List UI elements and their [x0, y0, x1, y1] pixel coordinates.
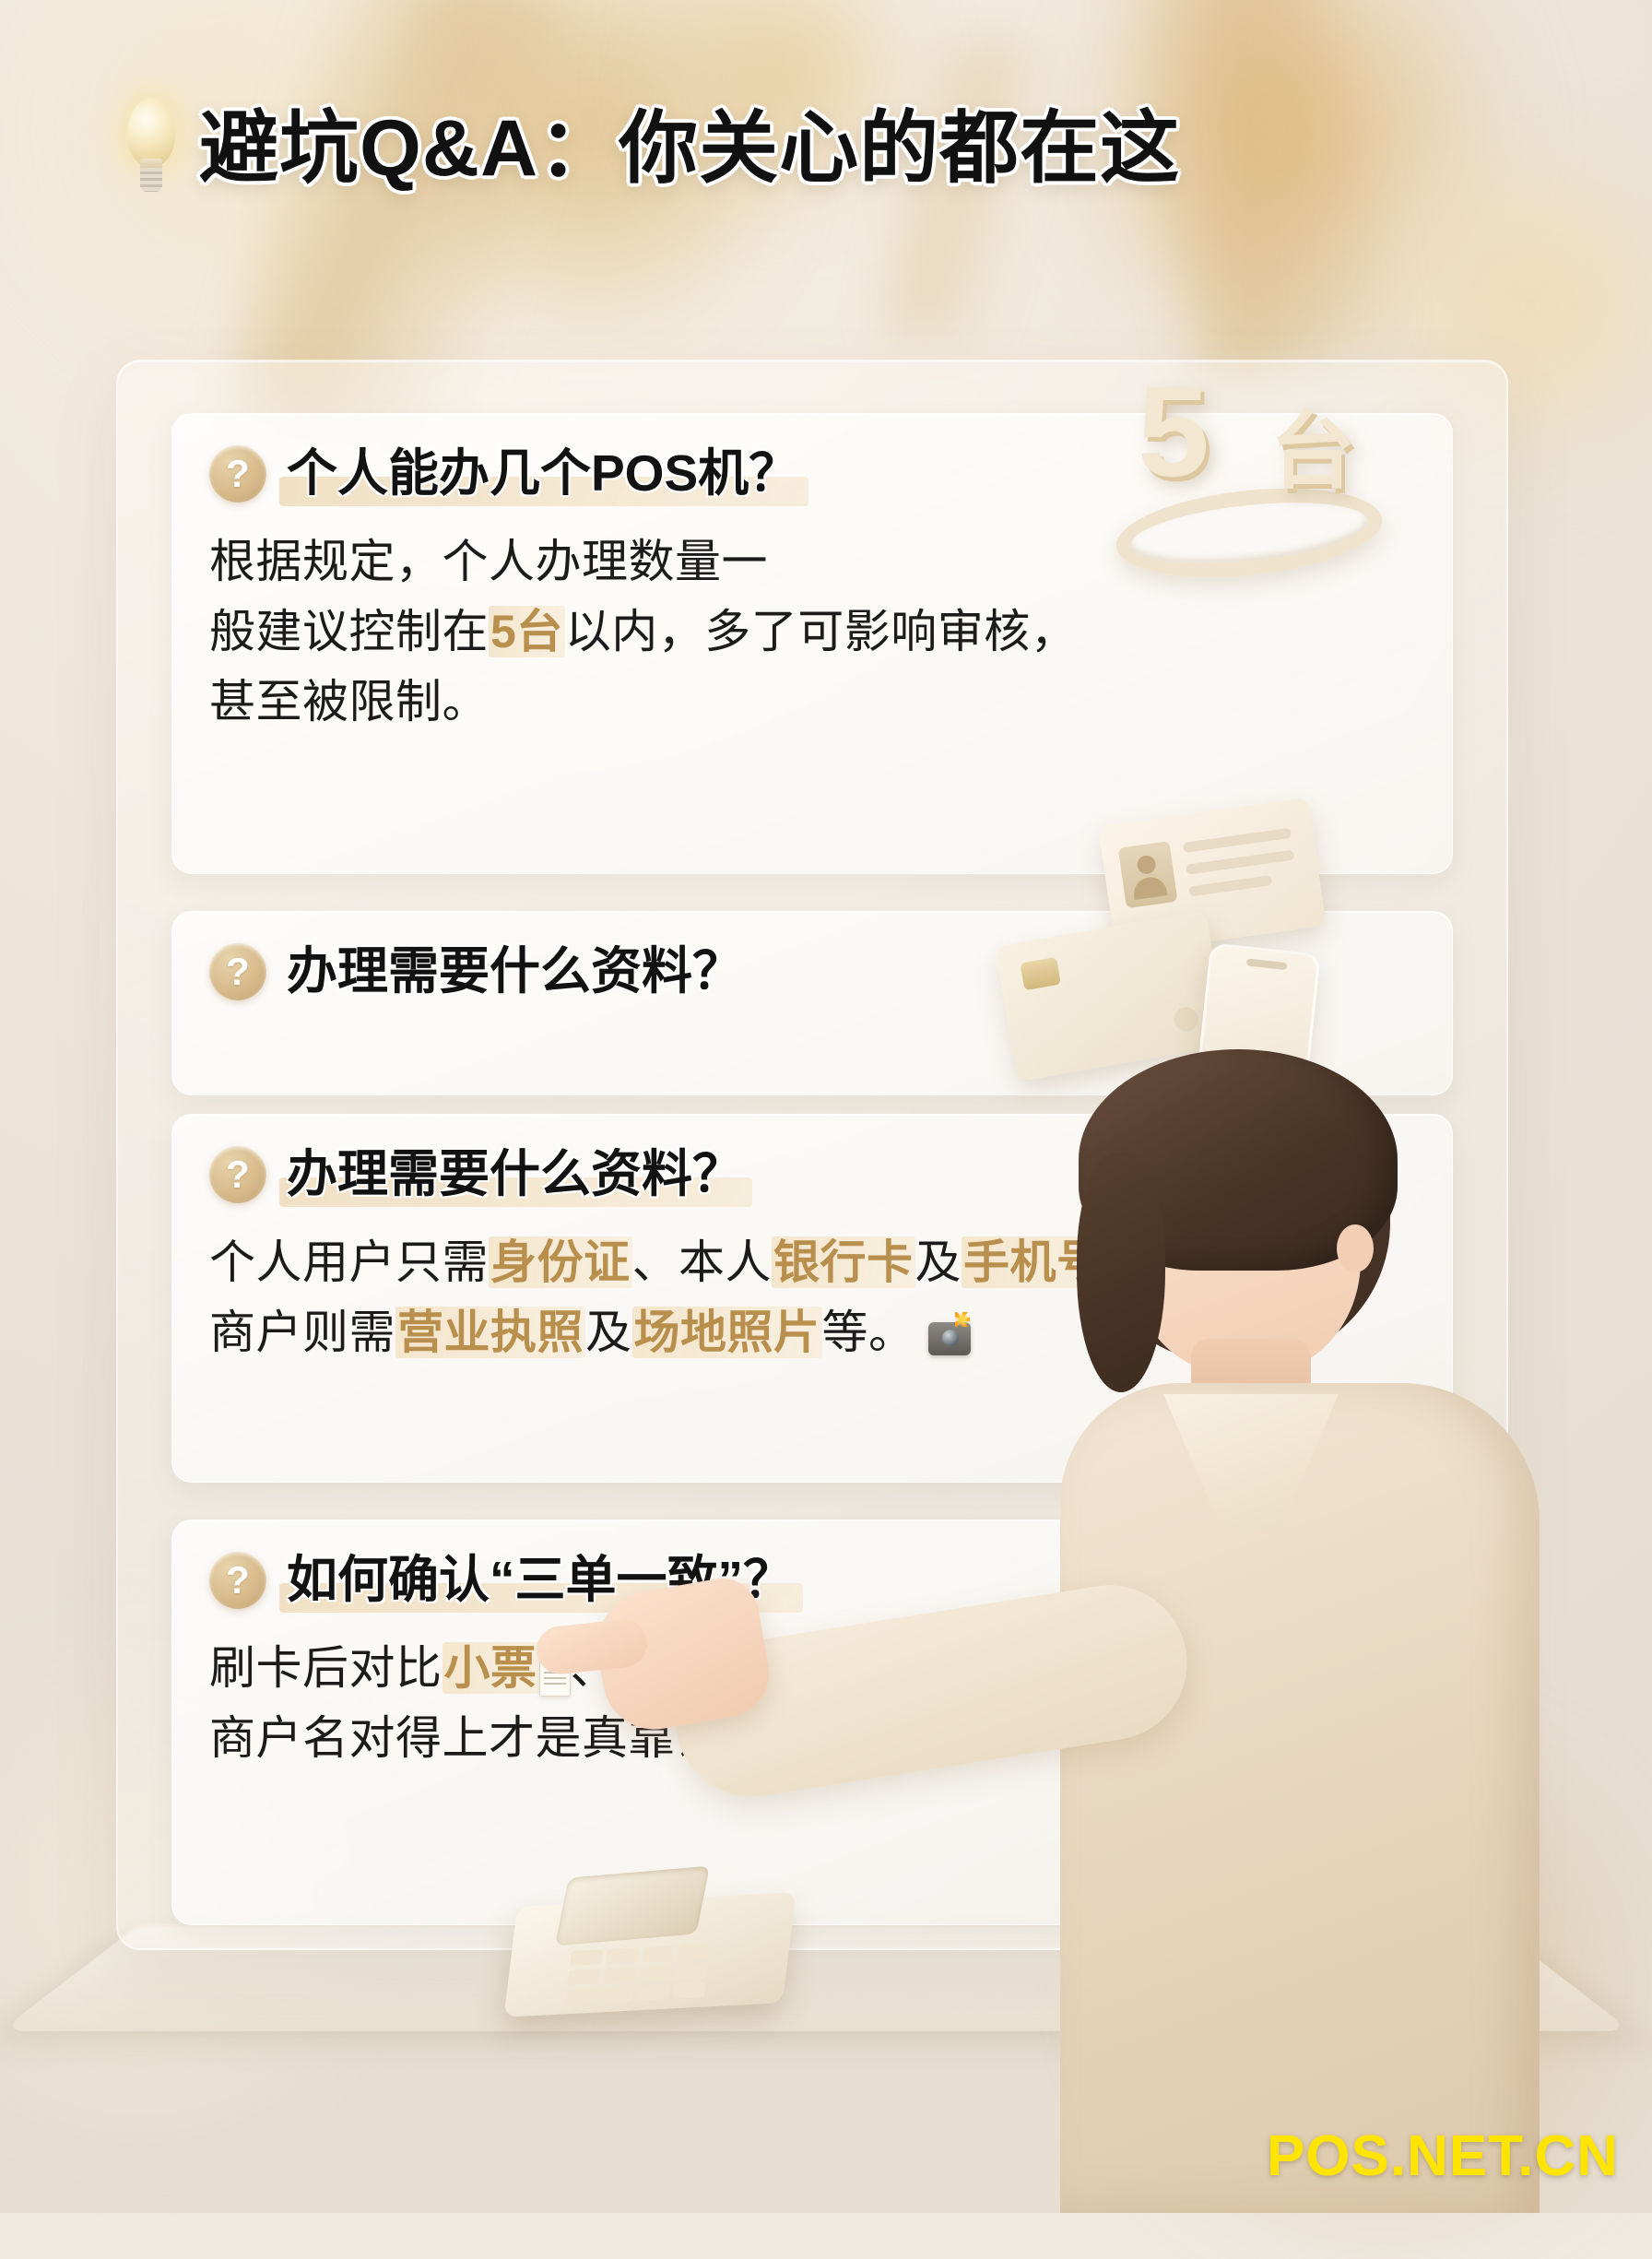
ear: [1337, 1224, 1374, 1272]
question-mark-icon: ?: [209, 943, 266, 1000]
answer-segment: 商户则需: [209, 1307, 395, 1358]
five-number: 5: [1138, 367, 1209, 496]
answer-highlight: 身份证: [489, 1236, 632, 1288]
watermark: POS.NET.CN: [1267, 2123, 1619, 2189]
question-mark-icon: ?: [209, 445, 266, 503]
answer-segment: 根据规定，个人办理数量一: [209, 536, 768, 587]
torso: [1060, 1383, 1540, 2213]
answer-segment: 甚至被限制。: [209, 676, 489, 727]
pos-keypad: [565, 1944, 711, 2005]
answer-segment: 等。: [822, 1307, 915, 1358]
page-header: 避坑Q&A：你关心的都在这: [118, 98, 1180, 199]
question-text: 个人能办几个POS机？: [287, 445, 799, 503]
five-units-3d-prop: 5 台: [1097, 378, 1401, 599]
answer-segment: 、本人: [632, 1236, 773, 1288]
lightbulb-icon: [118, 98, 184, 199]
answer-highlight: 营业执照: [395, 1307, 585, 1358]
answer-highlight: 小票: [442, 1642, 539, 1694]
question-text: 办理需要什么资料？: [287, 1146, 743, 1203]
character-illustration: [950, 977, 1652, 2213]
pos-screen: [555, 1866, 710, 1946]
answer-segment: 及: [585, 1307, 632, 1358]
answer-segment: 般建议控制在: [209, 606, 489, 657]
hair-side: [1077, 1153, 1165, 1392]
answer-segment: 个人用户只需: [209, 1236, 489, 1288]
answer-highlight: 银行卡: [772, 1236, 915, 1288]
answer-segment: 刷卡后对比: [209, 1642, 442, 1694]
answer-segment: 以内，多了可影响审核，: [565, 606, 1078, 657]
answer-highlight: 场地照片: [632, 1307, 822, 1358]
question-text: 办理需要什么资料？: [287, 943, 743, 1000]
page-title: 避坑Q&A：你关心的都在这: [199, 109, 1180, 188]
pos-terminal-3d-prop: [512, 1863, 844, 2038]
answer-highlight: 5台: [489, 606, 565, 657]
question-mark-icon: ?: [209, 1552, 266, 1609]
question-mark-icon: ?: [209, 1146, 266, 1203]
unit-character: 台: [1270, 409, 1355, 494]
